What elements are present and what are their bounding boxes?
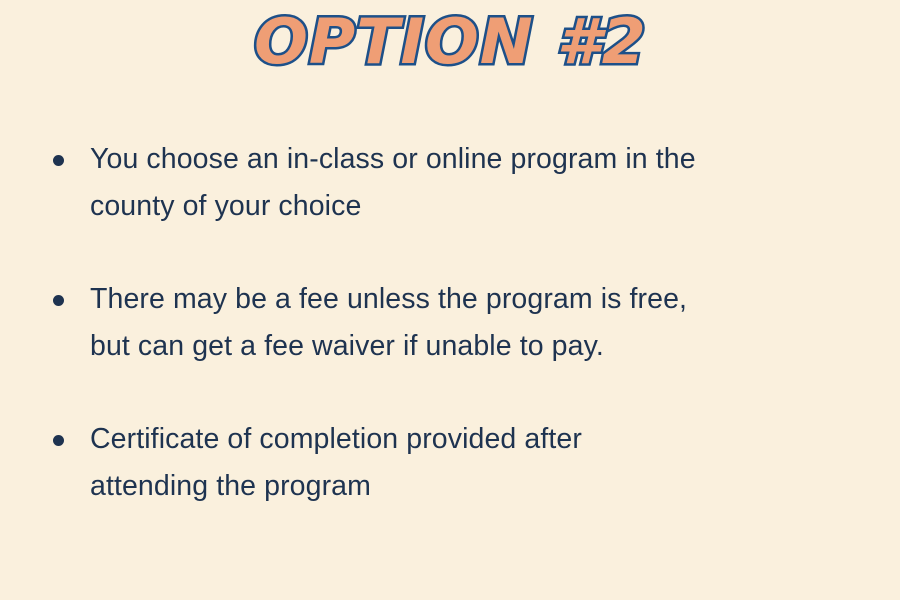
page-title: OPTION #2 bbox=[254, 6, 647, 78]
title-container: OPTION #2 bbox=[0, 6, 900, 86]
slide-canvas: OPTION #2 You choose an in-class or onli… bbox=[0, 0, 900, 600]
bullet-dot-icon bbox=[53, 435, 64, 446]
list-item: There may be a fee unless the program is… bbox=[44, 276, 856, 370]
list-item-text: There may be a fee unless the program is… bbox=[90, 276, 856, 370]
list-item: Certificate of completion provided after… bbox=[44, 416, 856, 510]
list-item: You choose an in-class or online program… bbox=[44, 136, 856, 230]
list-item-text: Certificate of completion provided after… bbox=[90, 416, 856, 510]
bullet-dot-icon bbox=[53, 155, 64, 166]
list-item-text: You choose an in-class or online program… bbox=[90, 136, 856, 230]
bullet-list: You choose an in-class or online program… bbox=[44, 136, 856, 510]
bullet-dot-icon bbox=[53, 295, 64, 306]
